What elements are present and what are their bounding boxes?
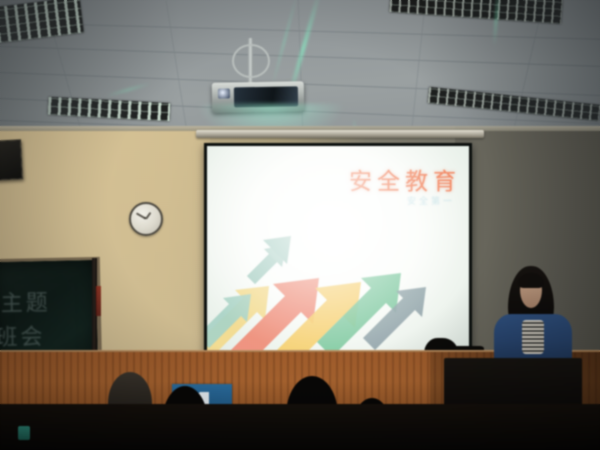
seat-row (0, 404, 600, 450)
wall-red-strip (96, 286, 101, 316)
projection-screen-frame: 安全教育 安全第一 (204, 143, 472, 361)
wall-clock (129, 202, 163, 236)
slide-subtitle: 安全第一 (407, 194, 455, 207)
arrow-teal-upper (247, 236, 291, 284)
blackboard-line-2: 班会 (0, 319, 46, 352)
screen-roller-casing (196, 130, 484, 138)
wall-speaker (0, 139, 23, 180)
photo-scene: 主题 班会 一 年 级 (0, 0, 600, 450)
clock-hour-hand (145, 212, 151, 220)
slide-title: 安全教育 (349, 162, 461, 196)
presenter-shirt (522, 320, 544, 354)
clock-center-pin (144, 217, 146, 219)
projector-lens-icon (218, 88, 230, 98)
projection-screen: 安全教育 安全第一 (207, 146, 469, 358)
presenter-hair-fringe (518, 273, 544, 288)
blackboard-line-1: 主题 (0, 285, 51, 318)
teal-cup (18, 426, 30, 440)
projector-mount-bracket (232, 44, 270, 78)
